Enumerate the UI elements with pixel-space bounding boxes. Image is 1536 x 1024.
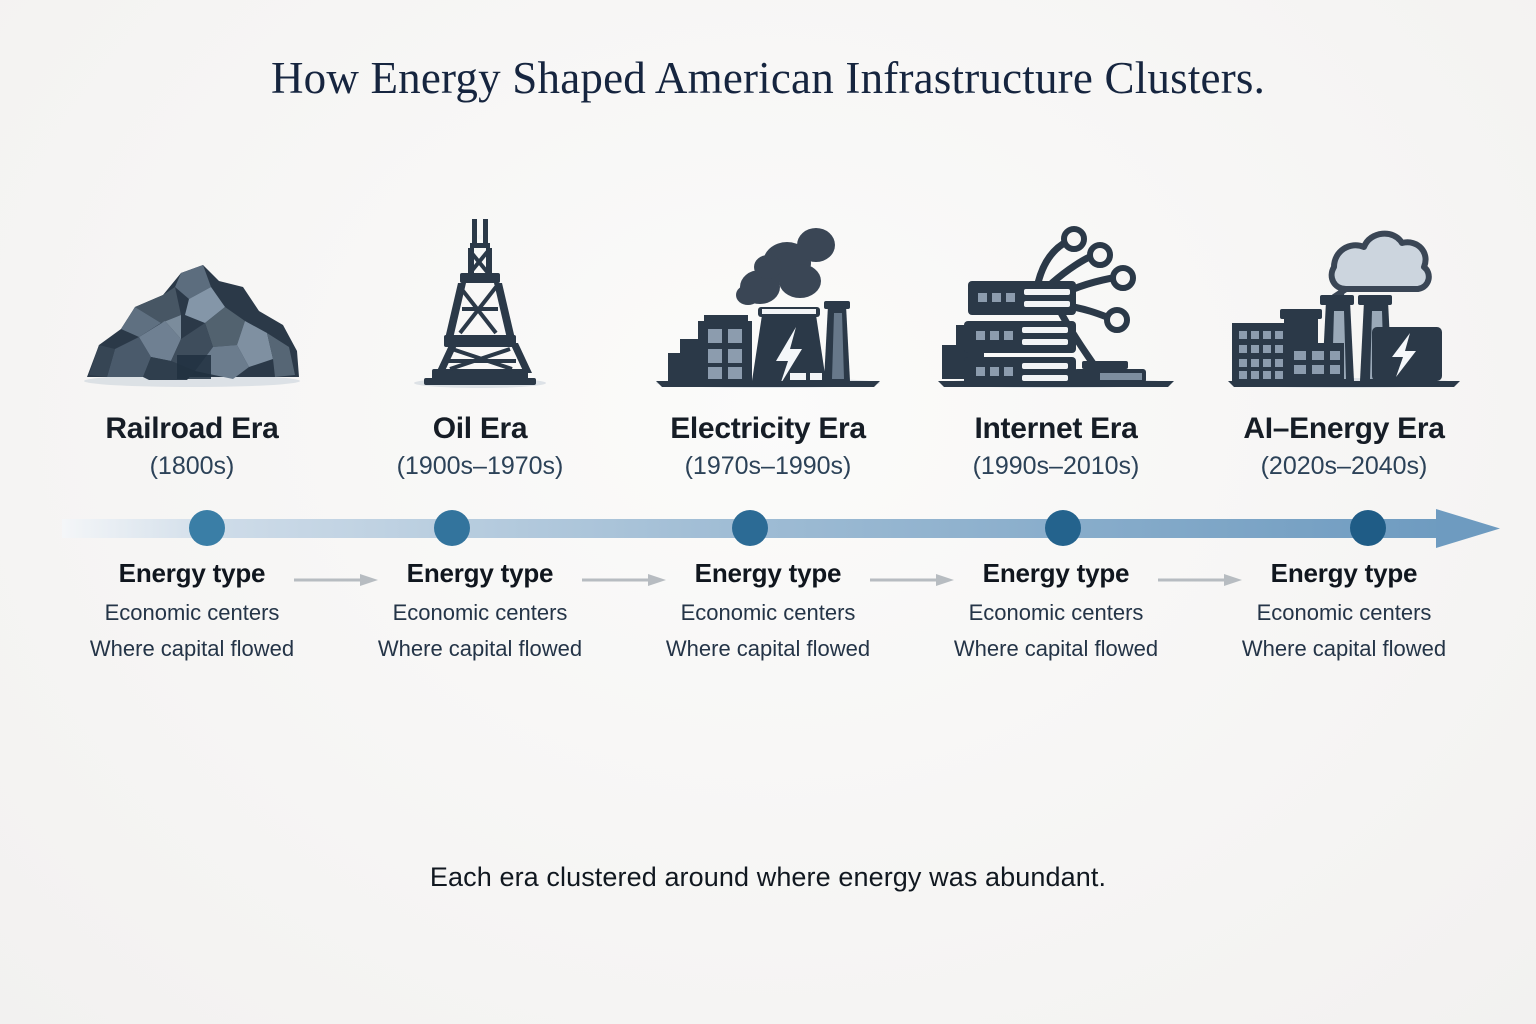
- coal-pile-icon: [48, 215, 336, 390]
- detail-columns: Energy type Economic centers Where capit…: [48, 558, 1488, 662]
- oil-era-dot: [434, 510, 470, 546]
- page-title: How Energy Shaped American Infrastructur…: [0, 52, 1536, 104]
- energy-type-heading: Energy type: [1271, 558, 1418, 589]
- oil-derrick-icon: [336, 215, 624, 390]
- era-column-internet: Internet Era (1990s–2010s): [912, 215, 1200, 481]
- timeline-axis: [0, 505, 1536, 551]
- infographic-canvas: How Energy Shaped American Infrastructur…: [0, 0, 1536, 1024]
- detail-column-electricity: Energy type Economic centers Where capit…: [624, 558, 912, 662]
- economic-centers-line: Economic centers: [105, 600, 280, 626]
- electricity-era-dot: [732, 510, 768, 546]
- era-range: (2020s–2040s): [1261, 452, 1428, 481]
- capital-flow-line: Where capital flowed: [90, 636, 294, 662]
- detail-column-ai-energy: Energy type Economic centers Where capit…: [1200, 558, 1488, 662]
- footer-caption: Each era clustered around where energy w…: [0, 862, 1536, 893]
- era-column-railroad: Railroad Era (1800s): [48, 215, 336, 481]
- economic-centers-line: Economic centers: [681, 600, 856, 626]
- economic-centers-line: Economic centers: [969, 600, 1144, 626]
- detail-column-oil: Energy type Economic centers Where capit…: [336, 558, 624, 662]
- era-columns: Railroad Era (1800s): [48, 215, 1488, 481]
- era-name: Oil Era: [433, 412, 528, 446]
- ai-energy-era-dot: [1350, 510, 1386, 546]
- era-column-ai-energy: AI–Energy Era (2020s–2040s): [1200, 215, 1488, 481]
- capital-flow-line: Where capital flowed: [666, 636, 870, 662]
- timeline-arrowhead: [1436, 509, 1500, 548]
- era-range: (1900s–1970s): [397, 452, 564, 481]
- era-range: (1970s–1990s): [685, 452, 852, 481]
- server-rack-network-icon: [912, 215, 1200, 390]
- era-range: (1800s): [150, 452, 235, 481]
- energy-type-heading: Energy type: [983, 558, 1130, 589]
- era-range: (1990s–2010s): [973, 452, 1140, 481]
- power-plant-icon: [624, 215, 912, 390]
- economic-centers-line: Economic centers: [393, 600, 568, 626]
- era-name: Electricity Era: [670, 412, 866, 446]
- economic-centers-line: Economic centers: [1257, 600, 1432, 626]
- railroad-era-dot: [189, 510, 225, 546]
- era-column-electricity: Electricity Era (1970s–1990s): [624, 215, 912, 481]
- capital-flow-line: Where capital flowed: [378, 636, 582, 662]
- energy-type-heading: Energy type: [119, 558, 266, 589]
- energy-type-heading: Energy type: [407, 558, 554, 589]
- era-name: Railroad Era: [105, 412, 278, 446]
- internet-era-dot: [1045, 510, 1081, 546]
- capital-flow-line: Where capital flowed: [1242, 636, 1446, 662]
- detail-column-railroad: Energy type Economic centers Where capit…: [48, 558, 336, 662]
- detail-column-internet: Energy type Economic centers Where capit…: [912, 558, 1200, 662]
- capital-flow-line: Where capital flowed: [954, 636, 1158, 662]
- era-name: AI–Energy Era: [1243, 412, 1444, 446]
- era-column-oil: Oil Era (1900s–1970s): [336, 215, 624, 481]
- data-center-plant-icon: [1200, 215, 1488, 390]
- era-name: Internet Era: [974, 412, 1137, 446]
- energy-type-heading: Energy type: [695, 558, 842, 589]
